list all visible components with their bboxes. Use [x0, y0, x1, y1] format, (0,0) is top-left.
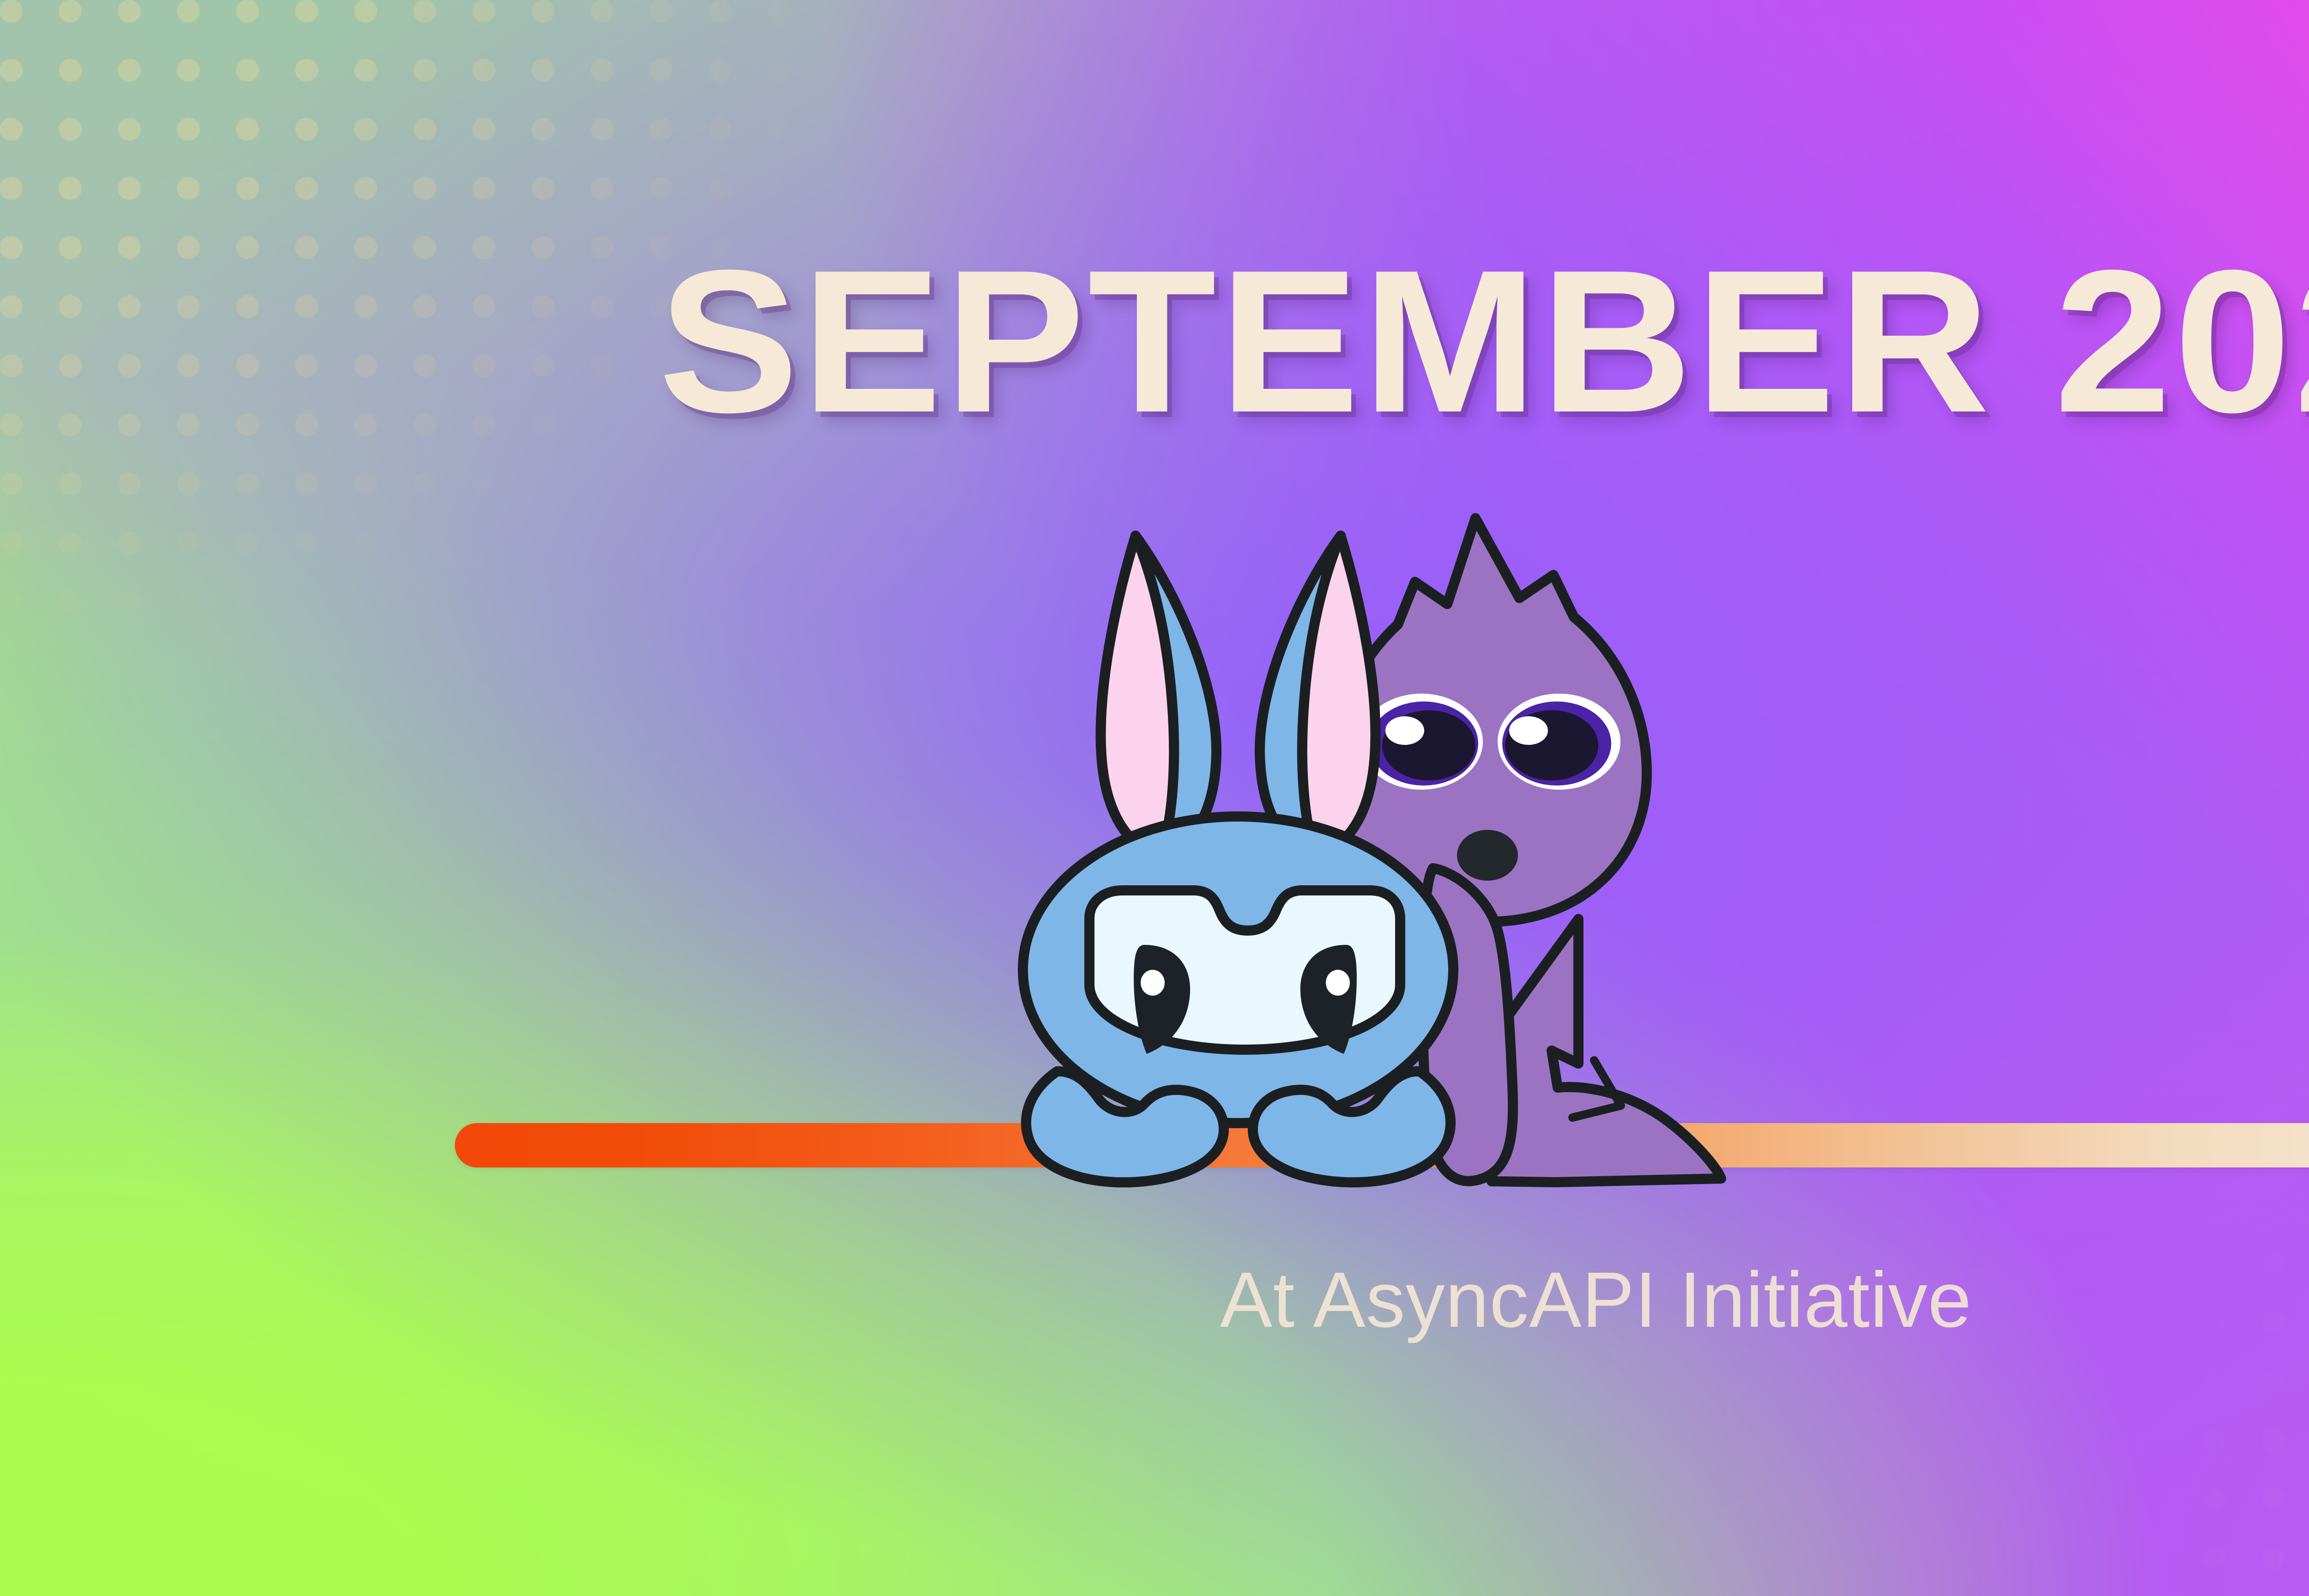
mascot-illustration: .ol { stroke:#1C1F22; stroke-width:22; s… — [1007, 503, 1921, 1196]
flame-eye-right — [1498, 694, 1620, 790]
flame-body-lower — [1488, 919, 1721, 1182]
halftone-dots-bottom-right — [2125, 760, 2309, 1596]
flame-mouth — [1457, 830, 1518, 881]
bunny-eye-right-highlight — [1326, 970, 1350, 996]
september-2025-banner: SEPTEMBER 2025 .ol { stroke:#1C1F22; str… — [0, 0, 2309, 1596]
bunny-ear-right — [1260, 536, 1375, 855]
page-title: SEPTEMBER 2025 — [0, 240, 2309, 443]
mascot-svg: .ol { stroke:#1C1F22; stroke-width:22; s… — [1007, 503, 1921, 1196]
bunny-eye-left-highlight — [1141, 970, 1165, 996]
subtitle: At AsyncAPI Initiative — [0, 1261, 2309, 1339]
bunny-ear-left — [1101, 536, 1216, 855]
